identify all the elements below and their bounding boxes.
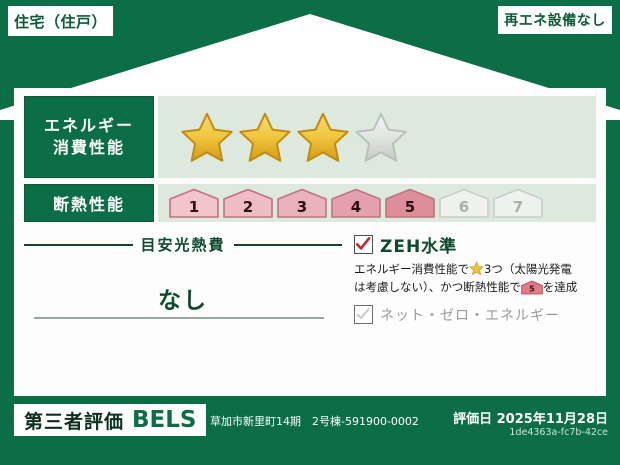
tag-building-type: 住宅（住戸） — [8, 6, 113, 36]
utility-cost-divider — [34, 317, 324, 319]
svg-text:6: 6 — [459, 198, 469, 216]
zeh-checkbox-checked — [354, 235, 373, 254]
energy-label-line2: 消費性能 — [53, 137, 125, 159]
star-filled-icon — [238, 111, 292, 163]
insulation-badge-active: 4 — [330, 188, 382, 218]
bels-energy-label: 住宅（住戸） 再エネ設備なし 建築物省エネ法に基づく 省エネ性能ラベル エネルギ… — [0, 0, 620, 465]
certificate-id: 1de4363a-fc7b-42ce — [509, 427, 608, 438]
property-address: 草加市新里町14期 2号棟-591900-0002 — [210, 413, 419, 429]
inline-house-badge-icon: 5 — [521, 280, 543, 295]
zeh-title: ZEH水準 — [380, 232, 457, 257]
label-card: エネルギー 消費性能 断熱性能 1234567 目安光熱費 なし — [14, 88, 606, 396]
evaluation-date: 評価日 2025年11月28日 — [453, 408, 608, 427]
inline-star-icon — [469, 261, 484, 276]
energy-performance-label: エネルギー 消費性能 — [24, 96, 154, 178]
svg-text:5: 5 — [529, 285, 534, 294]
utility-cost-value: なし — [24, 281, 342, 315]
bels-certification-badge: 第三者評価 BELS — [14, 404, 206, 436]
insulation-performance-row: 断熱性能 1234567 — [24, 184, 596, 222]
svg-text:5: 5 — [405, 198, 415, 216]
energy-label-line1: エネルギー — [44, 115, 134, 137]
header: 建築物省エネ法に基づく 省エネ性能ラベル — [0, 36, 620, 94]
bels-logo-text: BELS — [132, 407, 196, 433]
svg-text:2: 2 — [243, 198, 253, 216]
nzeb-checkbox-unchecked — [354, 305, 373, 324]
star-empty-icon — [354, 111, 408, 163]
star-rating — [158, 96, 596, 178]
zeh-title-row: ZEH水準 — [354, 232, 596, 257]
utility-cost-heading: 目安光熱費 — [24, 234, 342, 255]
svg-text:7: 7 — [513, 198, 523, 216]
zeh-description: エネルギー消費性能で3つ（太陽光発電は考慮しない）、かつ断熱性能で5を達成 — [354, 261, 596, 297]
svg-text:4: 4 — [351, 198, 361, 216]
insulation-badge-active: 3 — [276, 188, 328, 218]
star-filled-icon — [180, 111, 234, 163]
utility-cost-heading-text: 目安光熱費 — [141, 234, 226, 255]
footer: 第三者評価 BELS 草加市新里町14期 2号棟-591900-0002 評価日… — [0, 396, 620, 465]
tag-renewable-energy: 再エネ設備なし — [498, 6, 612, 34]
insulation-performance-label: 断熱性能 — [24, 184, 154, 222]
insulation-badge-active: 5 — [384, 188, 436, 218]
svg-text:1: 1 — [189, 198, 199, 216]
insulation-badge-active: 1 — [168, 188, 220, 218]
zeh-section: ZEH水準 エネルギー消費性能で3つ（太陽光発電は考慮しない）、かつ断熱性能で5… — [342, 230, 596, 325]
energy-performance-row: エネルギー 消費性能 — [24, 96, 596, 178]
insulation-badge-inactive: 6 — [438, 188, 490, 218]
bels-jp-label: 第三者評価 — [24, 407, 124, 434]
star-filled-icon — [296, 111, 350, 163]
nzeb-label: ネット・ゼロ・エネルギー — [380, 305, 560, 325]
zeh-desc-part1: エネルギー消費性能で — [354, 262, 469, 276]
svg-text:3: 3 — [297, 198, 307, 216]
heading-dash-right — [234, 244, 343, 246]
header-subtitle: 建築物省エネ法に基づく — [0, 36, 620, 56]
zeh-desc-part2: 3つ（太陽光発電 — [484, 262, 572, 276]
insulation-badge-active: 2 — [222, 188, 274, 218]
zeh-desc-part3: は考慮しない）、かつ断熱性能で — [354, 280, 521, 294]
nzeb-row: ネット・ゼロ・エネルギー — [354, 305, 596, 325]
zeh-desc-part4: を達成 — [543, 280, 578, 294]
lower-section: 目安光熱費 なし ZEH水準 エネルギー消費性能で3つ（太陽光発電は考慮 — [24, 230, 596, 325]
utility-cost-section: 目安光熱費 なし — [24, 230, 342, 325]
heading-dash-left — [24, 244, 133, 246]
insulation-badge-inactive: 7 — [492, 188, 544, 218]
insulation-label-text: 断熱性能 — [53, 191, 125, 215]
page-title: 省エネ性能ラベル — [0, 59, 620, 94]
insulation-level-scale: 1234567 — [158, 184, 596, 222]
